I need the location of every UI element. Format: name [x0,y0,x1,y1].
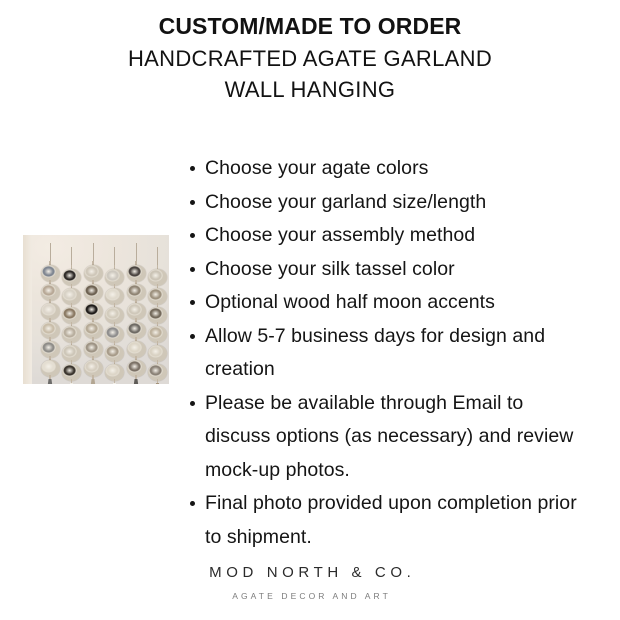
feature-item: Choose your agate colors [188,152,588,186]
title-line-primary: CUSTOM/MADE TO ORDER [0,12,620,42]
feature-item: Choose your silk tassel color [188,253,588,287]
feature-item: Optional wood half moon accents [188,286,588,320]
feature-item: Choose your garland size/length [188,186,588,220]
feature-item: Final photo provided upon completion pri… [188,487,588,554]
page-title: CUSTOM/MADE TO ORDER HANDCRAFTED AGATE G… [0,12,620,105]
title-line-secondary-2: WALL HANGING [0,76,620,105]
feature-item: Allow 5-7 business days for design and c… [188,320,588,387]
product-listing-graphic: CUSTOM/MADE TO ORDER HANDCRAFTED AGATE G… [0,0,620,620]
brand-footer: MOD NORTH & CO. AGATE DECOR AND ART [0,563,620,604]
feature-list: Choose your agate colorsChoose your garl… [188,152,588,554]
title-line-secondary-1: HANDCRAFTED AGATE GARLAND [0,45,620,74]
brand-tagline: AGATE DECOR AND ART [0,588,620,604]
feature-item: Please be available through Email to dis… [188,387,588,488]
brand-name: MOD NORTH & CO. [0,563,620,583]
product-photo [23,235,169,384]
feature-item: Choose your assembly method [188,219,588,253]
